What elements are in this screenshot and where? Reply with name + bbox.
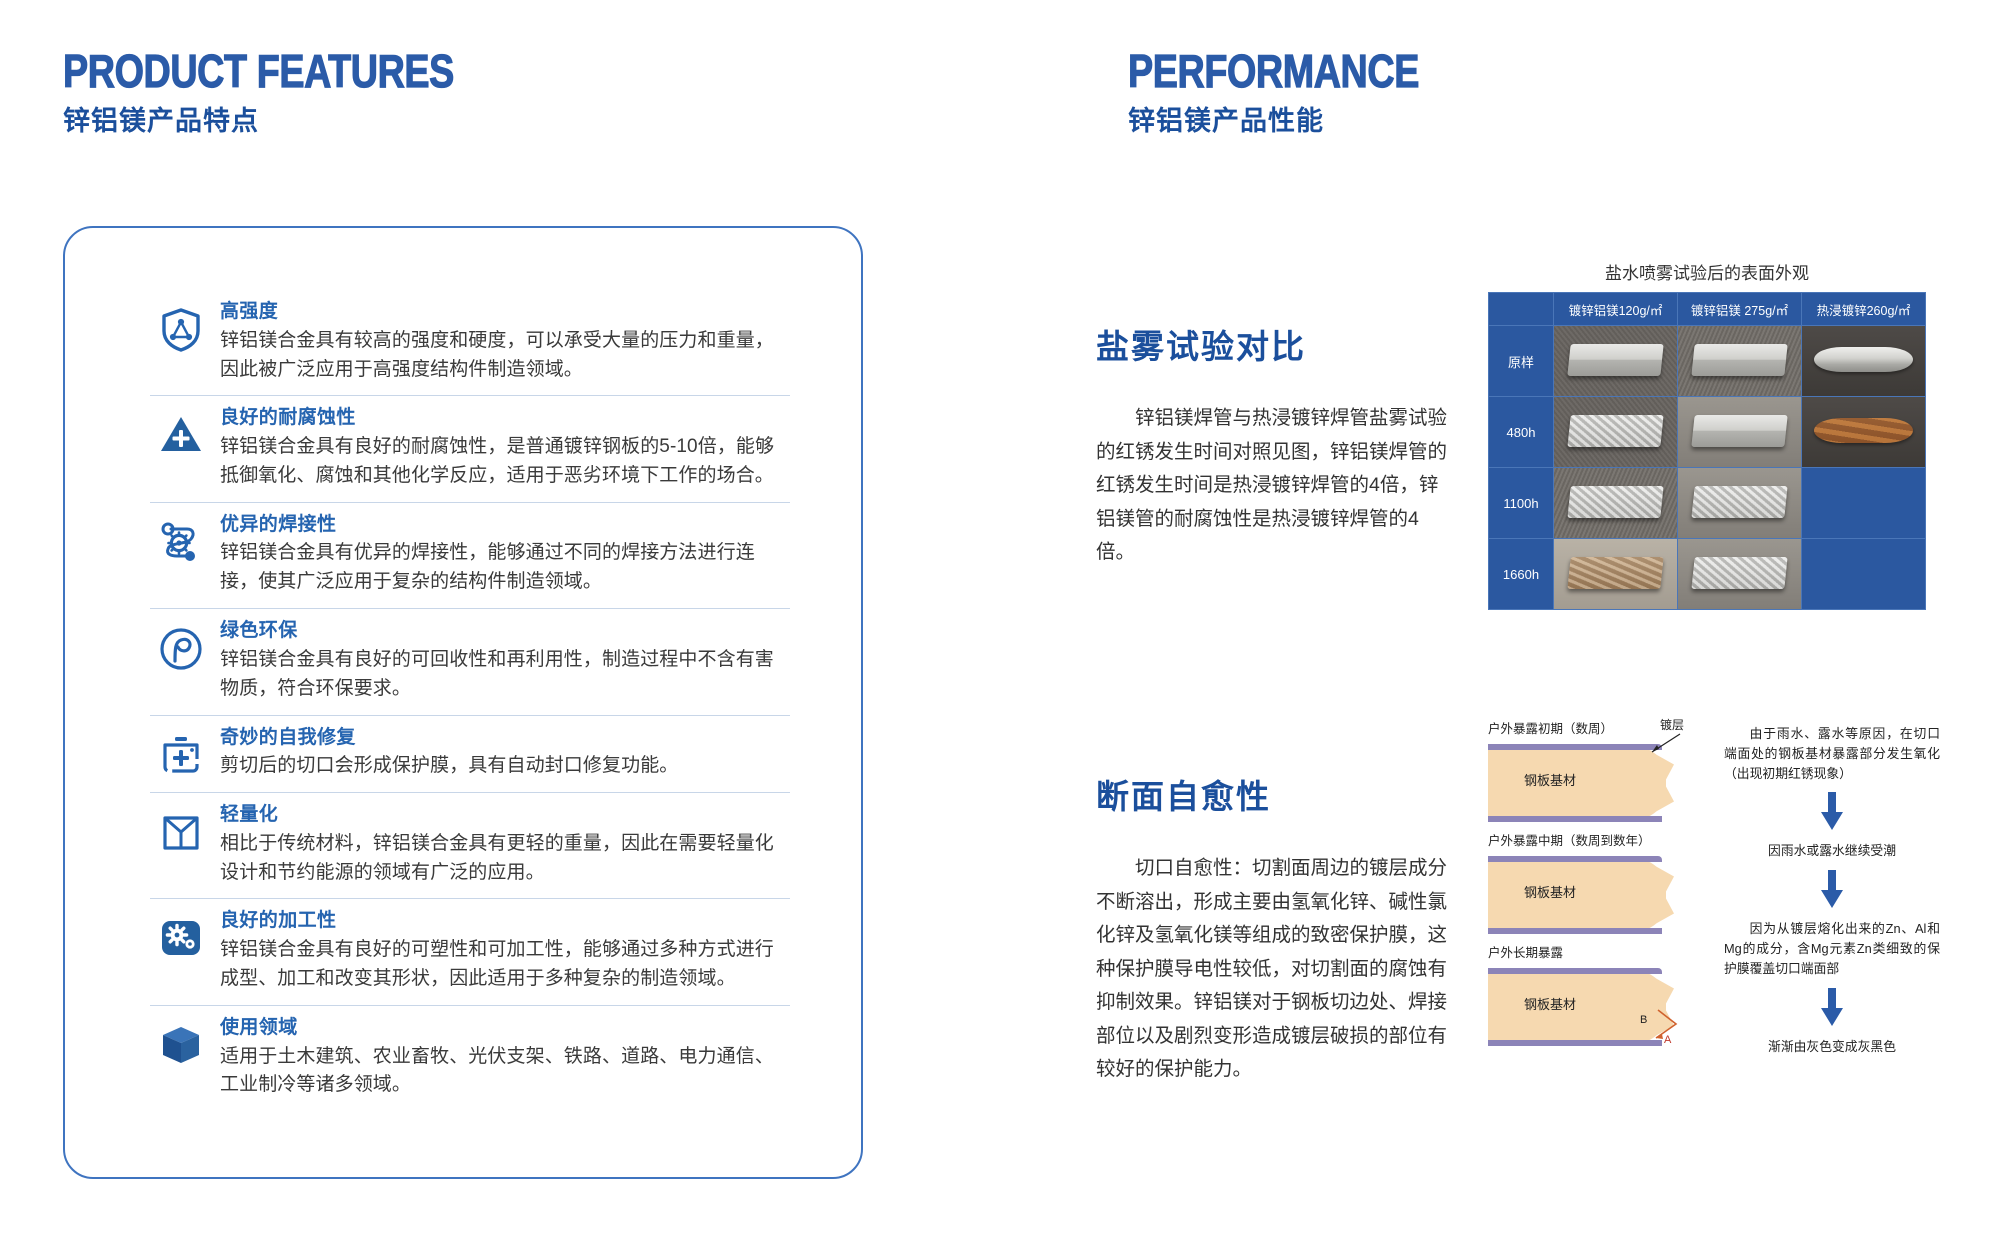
feature-desc: 相比于传统材料，锌铝镁合金具有更轻的重量，因此在需要轻量化设计和节约能源的领域有… — [220, 830, 790, 888]
table-row-label: 原样 — [1489, 326, 1554, 397]
healing-film-marker — [1648, 1004, 1690, 1050]
table-row: 1100h — [1489, 468, 1926, 539]
feature-desc: 剪切后的切口会形成保护膜，具有自动封口修复功能。 — [220, 752, 790, 781]
table-row-label: 1100h — [1489, 468, 1554, 539]
feature-item[interactable]: 绿色环保 锌铝镁合金具有良好的可回收性和再利用性，制造过程中不含有害物质，符合环… — [150, 609, 790, 715]
plate-core-label: 钢板基材 — [1524, 882, 1576, 901]
salt-spray-body: 锌铝镁焊管与热浸镀锌焊管盐雾试验的红锈发生时间对照见图，锌铝镁焊管的红锈发生时间… — [1096, 402, 1456, 570]
brochure-page: PRODUCT FEATURES 锌铝镁产品特点 高强度 锌铝镁合金具 — [0, 0, 2000, 1238]
feature-body: 轻量化 相比于传统材料，锌铝镁合金具有更轻的重量，因此在需要轻量化设计和节约能源… — [212, 802, 790, 887]
table-row-label: 1660h — [1489, 539, 1554, 610]
table-corner-cell — [1489, 293, 1554, 326]
feature-item[interactable]: 良好的耐腐蚀性 锌铝镁合金具有良好的耐腐蚀性，是普通镀锌钢板的5-10倍，能够抵… — [150, 396, 790, 502]
sample-photo-cell — [1554, 326, 1678, 397]
feature-item[interactable]: 优异的焊接性 锌铝镁合金具有优异的焊接性，能够通过不同的焊接方法进行连接，使其广… — [150, 503, 790, 609]
table-row-label: 480h — [1489, 397, 1554, 468]
self-heal-title: 断面自愈性 — [1096, 770, 1496, 818]
product-features-header: PRODUCT FEATURES 锌铝镁产品特点 — [63, 48, 540, 135]
feature-title: 良好的加工性 — [220, 908, 790, 934]
feature-item[interactable]: 使用领域 适用于土木建筑、农业畜牧、光伏支架、铁路、道路、电力通信、工业制冷等诸… — [150, 1006, 790, 1111]
first-aid-repair-icon — [150, 725, 212, 777]
steel-plate-graphic: 钢板基材 — [1488, 852, 1703, 938]
table-row: 480h — [1489, 397, 1926, 468]
table-row: 1660h — [1489, 539, 1926, 610]
marker-b-label: B — [1640, 1014, 1647, 1026]
feature-title: 良好的耐腐蚀性 — [220, 405, 790, 431]
table-col-header: 热浸镀锌260g/㎡ — [1802, 293, 1926, 326]
salt-spray-table: 镀锌铝镁120g/㎡ 镀锌铝镁 275g/㎡ 热浸镀锌260g/㎡ 原样 480… — [1488, 292, 1926, 610]
self-heal-body: 切口自愈性：切割面周边的镀层成分不断溶出，形成主要由氢氧化锌、碱性氯化锌及氢氧化… — [1096, 852, 1456, 1087]
coating-callout-arrow — [1646, 732, 1686, 758]
stage-label: 户外长期暴露 — [1488, 942, 1703, 961]
salt-spray-title: 盐雾试验对比 — [1096, 320, 1496, 368]
feature-desc: 锌铝镁合金具有良好的耐腐蚀性，是普通镀锌钢板的5-10倍，能够抵御氧化、腐蚀和其… — [220, 433, 790, 491]
sample-photo-cell — [1802, 326, 1926, 397]
performance-header: PERFORMANCE 锌铝镁产品性能 — [1128, 48, 1483, 135]
steel-plate-graphic: 钢板基材 B A — [1488, 964, 1703, 1050]
table-row: 原样 — [1489, 326, 1926, 397]
diagram-flow-column: 由于雨水、露水等原因，在切口端面处的钢板基材暴露部分发生氧化（出现初期红锈现象）… — [1724, 724, 1940, 1057]
gear-node-welding-icon — [150, 512, 212, 564]
feature-title: 绿色环保 — [220, 618, 790, 644]
feature-item[interactable]: 轻量化 相比于传统材料，锌铝镁合金具有更轻的重量，因此在需要轻量化设计和节约能源… — [150, 793, 790, 899]
salt-spray-table-caption: 盐水喷雾试验后的表面外观 — [1488, 259, 1926, 284]
features-card: 高强度 锌铝镁合金具有较高的强度和硬度，可以承受大量的压力和重量，因此被广泛应用… — [63, 226, 863, 1179]
features-list: 高强度 锌铝镁合金具有较高的强度和硬度，可以承受大量的压力和重量，因此被广泛应用… — [150, 290, 790, 1111]
flow-arrow-icon — [1724, 988, 1940, 1028]
feature-item[interactable]: 高强度 锌铝镁合金具有较高的强度和硬度，可以承受大量的压力和重量，因此被广泛应用… — [150, 290, 790, 396]
sample-photo-cell — [1678, 468, 1802, 539]
feature-body: 良好的耐腐蚀性 锌铝镁合金具有良好的耐腐蚀性，是普通镀锌钢板的5-10倍，能够抵… — [212, 405, 790, 490]
feature-body: 奇妙的自我修复 剪切后的切口会形成保护膜，具有自动封口修复功能。 — [212, 725, 790, 782]
plate-core-label: 钢板基材 — [1524, 994, 1576, 1013]
cube-application-icon — [150, 1015, 212, 1069]
sample-photo-cell — [1678, 326, 1802, 397]
flow-step-text: 因雨水或露水继续受潮 — [1724, 841, 1940, 861]
diagram-stage: 户外暴露中期（数周到数年） 钢板基材 — [1488, 830, 1703, 938]
performance-title-cn: 锌铝镁产品性能 — [1128, 108, 1483, 135]
feature-item[interactable]: 奇妙的自我修复 剪切后的切口会形成保护膜，具有自动封口修复功能。 — [150, 716, 790, 794]
salt-spray-table-wrap: 盐水喷雾试验后的表面外观 镀锌铝镁120g/㎡ 镀锌铝镁 275g/㎡ 热浸镀锌… — [1488, 259, 1926, 610]
feature-item[interactable]: 良好的加工性 锌铝镁合金具有良好的可塑性和可加工性，能够通过多种方式进行成型、加… — [150, 899, 790, 1005]
leaf-circle-eco-icon — [150, 618, 212, 672]
self-heal-diagram: 户外暴露初期（数周） 钢板基材 镀层 户外暴露中期（数周到数年） 钢板基材 户外… — [1488, 718, 1940, 1058]
feature-body: 优异的焊接性 锌铝镁合金具有优异的焊接性，能够通过不同的焊接方法进行连接，使其广… — [212, 512, 790, 597]
performance-title-en: PERFORMANCE — [1128, 48, 1419, 94]
coating-callout-label: 镀层 — [1660, 716, 1684, 733]
flow-arrow-icon — [1724, 870, 1940, 910]
salt-spray-block: 盐雾试验对比 锌铝镁焊管与热浸镀锌焊管盐雾试验的红锈发生时间对照见图，锌铝镁焊管… — [1096, 320, 1496, 570]
table-col-header: 镀锌铝镁120g/㎡ — [1554, 293, 1678, 326]
gears-machining-icon — [150, 908, 212, 960]
empty-blue-cell — [1802, 539, 1926, 610]
self-heal-block: 断面自愈性 切口自愈性：切割面周边的镀层成分不断溶出，形成主要由氢氧化锌、碱性氯… — [1096, 770, 1496, 1087]
stage-label: 户外暴露中期（数周到数年） — [1488, 830, 1703, 849]
shield-strength-icon — [150, 299, 212, 353]
empty-blue-cell — [1802, 468, 1926, 539]
plate-core-label: 钢板基材 — [1524, 770, 1576, 789]
triangle-plus-corrosion-icon — [150, 405, 212, 455]
feature-title: 使用领域 — [220, 1015, 790, 1041]
lightweight-box-icon — [150, 802, 212, 856]
flow-step-text: 渐渐由灰色变成灰黑色 — [1724, 1037, 1940, 1057]
feature-body: 良好的加工性 锌铝镁合金具有良好的可塑性和可加工性，能够通过多种方式进行成型、加… — [212, 908, 790, 993]
flow-step-text: 由于雨水、露水等原因，在切口端面处的钢板基材暴露部分发生氧化（出现初期红锈现象） — [1724, 724, 1940, 783]
sample-photo-cell — [1678, 539, 1802, 610]
flow-step-text: 因为从镀层熔化出来的Zn、Al和Mg的成分，含Mg元素Zn类细致的保护膜覆盖切口… — [1724, 919, 1940, 978]
feature-desc: 锌铝镁合金具有较高的强度和硬度，可以承受大量的压力和重量，因此被广泛应用于高强度… — [220, 327, 790, 385]
sample-photo-cell — [1554, 468, 1678, 539]
sample-photo-cell — [1554, 397, 1678, 468]
feature-title: 奇妙的自我修复 — [220, 725, 790, 751]
feature-body: 绿色环保 锌铝镁合金具有良好的可回收性和再利用性，制造过程中不含有害物质，符合环… — [212, 618, 790, 703]
diagram-stage: 户外长期暴露 钢板基材 B A — [1488, 942, 1703, 1050]
feature-title: 轻量化 — [220, 802, 790, 828]
feature-title: 优异的焊接性 — [220, 512, 790, 538]
feature-title: 高强度 — [220, 299, 790, 325]
table-col-header: 镀锌铝镁 275g/㎡ — [1678, 293, 1802, 326]
table-header-row: 镀锌铝镁120g/㎡ 镀锌铝镁 275g/㎡ 热浸镀锌260g/㎡ — [1489, 293, 1926, 326]
sample-photo-cell — [1554, 539, 1678, 610]
sample-photo-cell — [1678, 397, 1802, 468]
product-features-title-cn: 锌铝镁产品特点 — [63, 108, 540, 135]
feature-desc: 锌铝镁合金具有优异的焊接性，能够通过不同的焊接方法进行连接，使其广泛应用于复杂的… — [220, 539, 790, 597]
feature-desc: 锌铝镁合金具有良好的可回收性和再利用性，制造过程中不含有害物质，符合环保要求。 — [220, 646, 790, 704]
product-features-title-en: PRODUCT FEATURES — [63, 48, 454, 94]
sample-photo-cell — [1802, 397, 1926, 468]
feature-desc: 适用于土木建筑、农业畜牧、光伏支架、铁路、道路、电力通信、工业制冷等诸多领域。 — [220, 1043, 790, 1101]
feature-desc: 锌铝镁合金具有良好的可塑性和可加工性，能够通过多种方式进行成型、加工和改变其形状… — [220, 936, 790, 994]
feature-body: 高强度 锌铝镁合金具有较高的强度和硬度，可以承受大量的压力和重量，因此被广泛应用… — [212, 299, 790, 384]
flow-arrow-icon — [1724, 792, 1940, 832]
feature-body: 使用领域 适用于土木建筑、农业畜牧、光伏支架、铁路、道路、电力通信、工业制冷等诸… — [212, 1015, 790, 1100]
